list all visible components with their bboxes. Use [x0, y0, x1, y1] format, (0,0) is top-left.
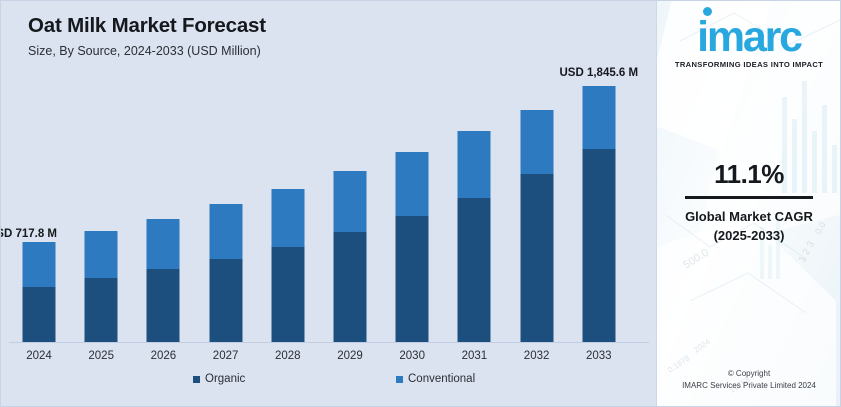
- logo-tagline: TRANSFORMING IDEAS INTO IMPACT: [656, 60, 841, 69]
- legend-label-conventional: Conventional: [408, 373, 475, 385]
- chart-panel: Oat Milk Market Forecast Size, By Source…: [1, 1, 656, 406]
- cagr-caption: Global Market CAGR: [656, 207, 841, 226]
- x-tick-label: 2029: [337, 350, 363, 362]
- bar-segment-conventional[interactable]: [582, 86, 615, 149]
- bar-segment-organic[interactable]: [582, 149, 615, 342]
- bar-segment-organic[interactable]: [147, 269, 180, 342]
- chart-legend: Organic Conventional: [1, 373, 656, 395]
- stacked-bar[interactable]: [396, 152, 429, 342]
- legend-item-conventional[interactable]: Conventional: [396, 373, 475, 385]
- panel-divider: [656, 1, 657, 406]
- bar-segment-conventional[interactable]: [334, 171, 367, 232]
- bar-group: USD 1,845.6 M2033: [568, 1, 630, 343]
- bar-segment-organic[interactable]: [520, 174, 553, 342]
- bar-value-label: USD 1,845.6 M: [559, 67, 638, 79]
- bar-group: 2026: [132, 1, 194, 343]
- copyright-owner-line: IMARC Services Private Limited 2024: [656, 380, 841, 392]
- imarc-logo[interactable]: imarc TRANSFORMING IDEAS INTO IMPACT: [656, 15, 841, 69]
- stacked-bar[interactable]: [520, 110, 553, 342]
- bar-value-label: USD 717.8 M: [0, 228, 57, 240]
- logo-wordmark: imarc: [697, 15, 801, 59]
- stacked-bar[interactable]: USD 1,845.6 M: [582, 86, 615, 342]
- stacked-bar[interactable]: [85, 231, 118, 342]
- stacked-bar[interactable]: [147, 219, 180, 342]
- x-tick-label: 2024: [26, 350, 52, 362]
- bar-segment-organic[interactable]: [458, 198, 491, 342]
- legend-swatch-conventional: [396, 376, 403, 383]
- stacked-bar[interactable]: [271, 189, 304, 342]
- bar-segment-conventional[interactable]: [520, 110, 553, 174]
- bar-segment-conventional[interactable]: [458, 131, 491, 198]
- stacked-bar[interactable]: [458, 131, 491, 342]
- bar-group: 2029: [319, 1, 381, 343]
- copyright-symbol-line: © Copyright: [656, 368, 841, 380]
- x-tick-label: 2027: [213, 350, 239, 362]
- legend-item-organic[interactable]: Organic: [193, 373, 245, 385]
- bar-segment-organic[interactable]: [23, 287, 56, 342]
- x-tick-label: 2033: [586, 350, 612, 362]
- bar-group: 2028: [257, 1, 319, 343]
- cagr-divider: [685, 196, 813, 199]
- x-tick-label: 2028: [275, 350, 301, 362]
- stacked-bar[interactable]: [334, 171, 367, 342]
- bar-segment-conventional[interactable]: [147, 219, 180, 270]
- legend-swatch-organic: [193, 376, 200, 383]
- legend-label-organic: Organic: [205, 373, 245, 385]
- bar-segment-conventional[interactable]: [23, 242, 56, 286]
- bar-group: 2031: [443, 1, 505, 343]
- cagr-period: (2025-2033): [656, 226, 841, 245]
- stacked-bar[interactable]: [209, 204, 242, 342]
- market-forecast-infographic: Oat Milk Market Forecast Size, By Source…: [0, 0, 841, 407]
- bar-segment-conventional[interactable]: [396, 152, 429, 216]
- stacked-bar[interactable]: USD 717.8 M: [23, 242, 56, 342]
- bar-group: USD 717.8 M2024: [8, 1, 70, 343]
- x-tick-label: 2026: [151, 350, 177, 362]
- bar-segment-organic[interactable]: [271, 247, 304, 342]
- bar-segment-organic[interactable]: [334, 232, 367, 342]
- bar-segment-organic[interactable]: [209, 259, 242, 342]
- bar-group: 2027: [195, 1, 257, 343]
- x-tick-label: 2030: [399, 350, 425, 362]
- x-tick-label: 2032: [524, 350, 550, 362]
- x-tick-label: 2025: [88, 350, 114, 362]
- bar-segment-conventional[interactable]: [209, 204, 242, 258]
- cagr-callout: 11.1% Global Market CAGR (2025-2033): [656, 159, 841, 245]
- brand-panel: 500.0 1 2 3 0.1878 20768 2024 0.0 imarc …: [656, 1, 841, 406]
- bar-segment-conventional[interactable]: [85, 231, 118, 278]
- cagr-value: 11.1%: [656, 159, 841, 189]
- bar-group: 2032: [506, 1, 568, 343]
- bar-segment-organic[interactable]: [396, 216, 429, 342]
- bar-segment-conventional[interactable]: [271, 189, 304, 247]
- logo-text: imarc: [697, 13, 801, 61]
- plot-area: USD 717.8 M20242025202620272028202920302…: [1, 1, 656, 343]
- bar-group: 2025: [70, 1, 132, 343]
- bar-group: 2030: [381, 1, 443, 343]
- x-tick-label: 2031: [462, 350, 488, 362]
- bar-segment-organic[interactable]: [85, 278, 118, 342]
- copyright-notice: © Copyright IMARC Services Private Limit…: [656, 368, 841, 392]
